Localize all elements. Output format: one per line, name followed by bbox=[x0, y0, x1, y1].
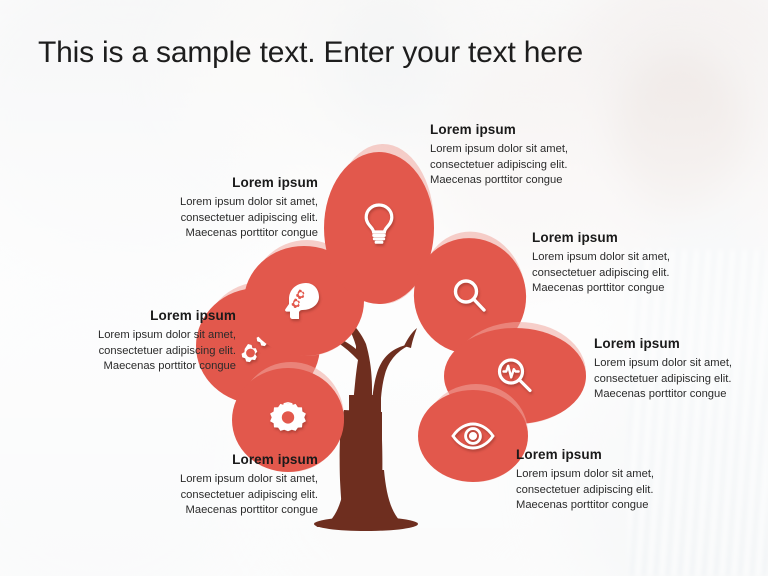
block-line-1: Lorem ipsum dolor sit amet, bbox=[594, 356, 768, 372]
block-line-3: Maecenas porttitor congue bbox=[108, 503, 318, 519]
text-block-upper-left: Lorem ipsum Lorem ipsum dolor sit amet, … bbox=[108, 175, 318, 242]
block-line-1: Lorem ipsum dolor sit amet, bbox=[532, 250, 742, 266]
block-line-3: Maecenas porttitor congue bbox=[26, 359, 236, 375]
block-line-2: consectetuer adipiscing elit. bbox=[430, 158, 640, 174]
block-heading: Lorem ipsum bbox=[516, 447, 726, 462]
block-line-3: Maecenas porttitor congue bbox=[516, 498, 726, 514]
block-heading: Lorem ipsum bbox=[430, 122, 640, 137]
text-block-top-center: Lorem ipsum Lorem ipsum dolor sit amet, … bbox=[430, 122, 640, 189]
block-heading: Lorem ipsum bbox=[108, 452, 318, 467]
block-line-1: Lorem ipsum dolor sit amet, bbox=[26, 328, 236, 344]
block-line-3: Maecenas porttitor congue bbox=[430, 173, 640, 189]
block-line-2: consectetuer adipiscing elit. bbox=[594, 372, 768, 388]
block-heading: Lorem ipsum bbox=[108, 175, 318, 190]
block-line-2: consectetuer adipiscing elit. bbox=[516, 483, 726, 499]
block-line-3: Maecenas porttitor congue bbox=[594, 387, 768, 403]
block-line-2: consectetuer adipiscing elit. bbox=[26, 344, 236, 360]
text-block-lower-right: Lorem ipsum Lorem ipsum dolor sit amet, … bbox=[516, 447, 726, 514]
magnifier-icon bbox=[450, 276, 490, 316]
block-line-2: consectetuer adipiscing elit. bbox=[108, 211, 318, 227]
block-line-2: consectetuer adipiscing elit. bbox=[108, 488, 318, 504]
text-block-mid-left: Lorem ipsum Lorem ipsum dolor sit amet, … bbox=[26, 308, 236, 375]
text-block-mid-right: Lorem ipsum Lorem ipsum dolor sit amet, … bbox=[594, 336, 768, 403]
block-line-1: Lorem ipsum dolor sit amet, bbox=[108, 472, 318, 488]
text-block-upper-right: Lorem ipsum Lorem ipsum dolor sit amet, … bbox=[532, 230, 742, 297]
gear-icon bbox=[268, 400, 308, 440]
block-heading: Lorem ipsum bbox=[26, 308, 236, 323]
block-line-1: Lorem ipsum dolor sit amet, bbox=[108, 195, 318, 211]
block-line-2: consectetuer adipiscing elit. bbox=[532, 266, 742, 282]
block-heading: Lorem ipsum bbox=[532, 230, 742, 245]
block-line-3: Maecenas porttitor congue bbox=[532, 281, 742, 297]
block-line-1: Lorem ipsum dolor sit amet, bbox=[516, 467, 726, 483]
text-block-lower-left: Lorem ipsum Lorem ipsum dolor sit amet, … bbox=[108, 452, 318, 519]
leaf-eye[interactable] bbox=[418, 390, 528, 482]
head-with-gears-icon bbox=[282, 280, 326, 322]
block-heading: Lorem ipsum bbox=[594, 336, 768, 351]
lightbulb-icon bbox=[362, 202, 396, 246]
eye-icon bbox=[450, 421, 496, 451]
block-line-3: Maecenas porttitor congue bbox=[108, 226, 318, 242]
block-line-1: Lorem ipsum dolor sit amet, bbox=[430, 142, 640, 158]
